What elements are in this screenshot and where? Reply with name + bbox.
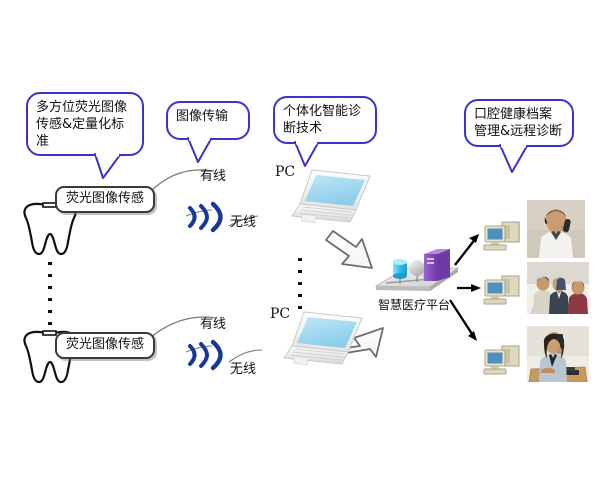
platform-label: 智慧医疗平台 <box>378 296 450 313</box>
sensor-box-top[interactable]: 荧光图像传感 <box>55 186 155 213</box>
label-pc-bottom: PC <box>270 306 290 322</box>
callout-multi-angle-fluorescence[interactable]: 多方位荧光图像 传感&定量化标 准 <box>26 92 144 156</box>
label-wireless-top: 无线 <box>230 211 256 230</box>
arrow-platform-to-endpoint-3 <box>450 300 477 341</box>
diagram-canvas: 多方位荧光图像 传感&定量化标 准 图像传输 个体化智能诊 断技术 口腔健康档案… <box>0 0 600 500</box>
smart-medical-platform-icon <box>376 249 458 291</box>
desktop-computer-icon-1 <box>482 216 524 256</box>
callout-text: 图像传输 <box>176 108 241 125</box>
block-arrow-top-to-platform <box>326 231 372 268</box>
callout-oral-health-record[interactable]: 口腔健康档案 管理&远程诊断 <box>464 99 574 147</box>
photo-doctor-on-phone <box>527 200 585 258</box>
laptop-icon-bottom <box>282 308 368 378</box>
photo-woman-on-telephone <box>527 326 589 382</box>
label-wireless-bottom: 无线 <box>230 358 256 377</box>
label-wired-top: 有线 <box>200 165 226 184</box>
wireless-signal-icon-top <box>184 200 232 234</box>
label-pc-top: PC <box>275 164 295 180</box>
callout-personalized-diagnosis[interactable]: 个体化智能诊 断技术 <box>273 96 377 144</box>
arrow-platform-to-endpoint-2 <box>457 284 481 292</box>
arrow-platform-to-endpoint-1 <box>455 234 479 265</box>
sensor-label: 荧光图像传感 <box>66 337 144 352</box>
platform-server-icon <box>424 249 450 281</box>
desktop-computer-icon-3 <box>482 340 524 380</box>
sensor-label: 荧光图像传感 <box>66 191 144 206</box>
callout-text: 口腔健康档案 管理&远程诊断 <box>474 106 565 140</box>
label-wired-bottom: 有线 <box>200 313 226 332</box>
sensor-box-bottom[interactable]: 荧光图像传感 <box>55 332 155 359</box>
desktop-computer-icon-2 <box>482 270 524 310</box>
photo-medical-team-meeting <box>527 262 589 314</box>
callout-text: 个体化智能诊 断技术 <box>283 103 368 137</box>
callout-text: 多方位荧光图像 传感&定量化标 准 <box>36 99 135 150</box>
callout-image-transmission[interactable]: 图像传输 <box>166 101 250 140</box>
laptop-icon-top <box>290 166 376 236</box>
wireless-signal-icon-bottom <box>184 338 232 372</box>
